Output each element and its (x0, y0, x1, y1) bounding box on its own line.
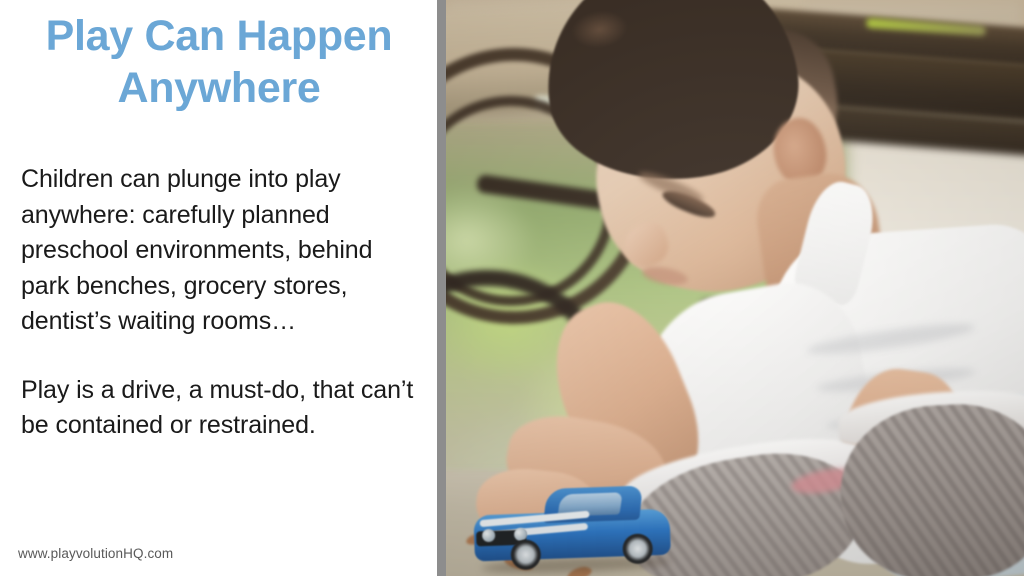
photo-panel (446, 0, 1024, 576)
panel-divider (437, 0, 446, 576)
slide-canvas: Play Can Happen Anywhere Children can pl… (0, 0, 1024, 576)
blue-toy-muscle-car (472, 481, 675, 576)
page-title: Play Can Happen Anywhere (14, 10, 424, 115)
footer-website-url[interactable]: www.playvolutionHQ.com (18, 546, 173, 561)
body-copy: Children can plunge into play anywhere: … (21, 162, 425, 444)
photo-boy-playing-with-toy-car (446, 0, 1024, 576)
text-panel: Play Can Happen Anywhere Children can pl… (0, 0, 437, 576)
title-line-1: Play Can Happen (46, 12, 393, 60)
paragraph-1: Children can plunge into play anywhere: … (21, 162, 425, 340)
paragraph-2: Play is a drive, a must-do, that can’t b… (21, 373, 425, 444)
title-line-2: Anywhere (117, 64, 320, 112)
